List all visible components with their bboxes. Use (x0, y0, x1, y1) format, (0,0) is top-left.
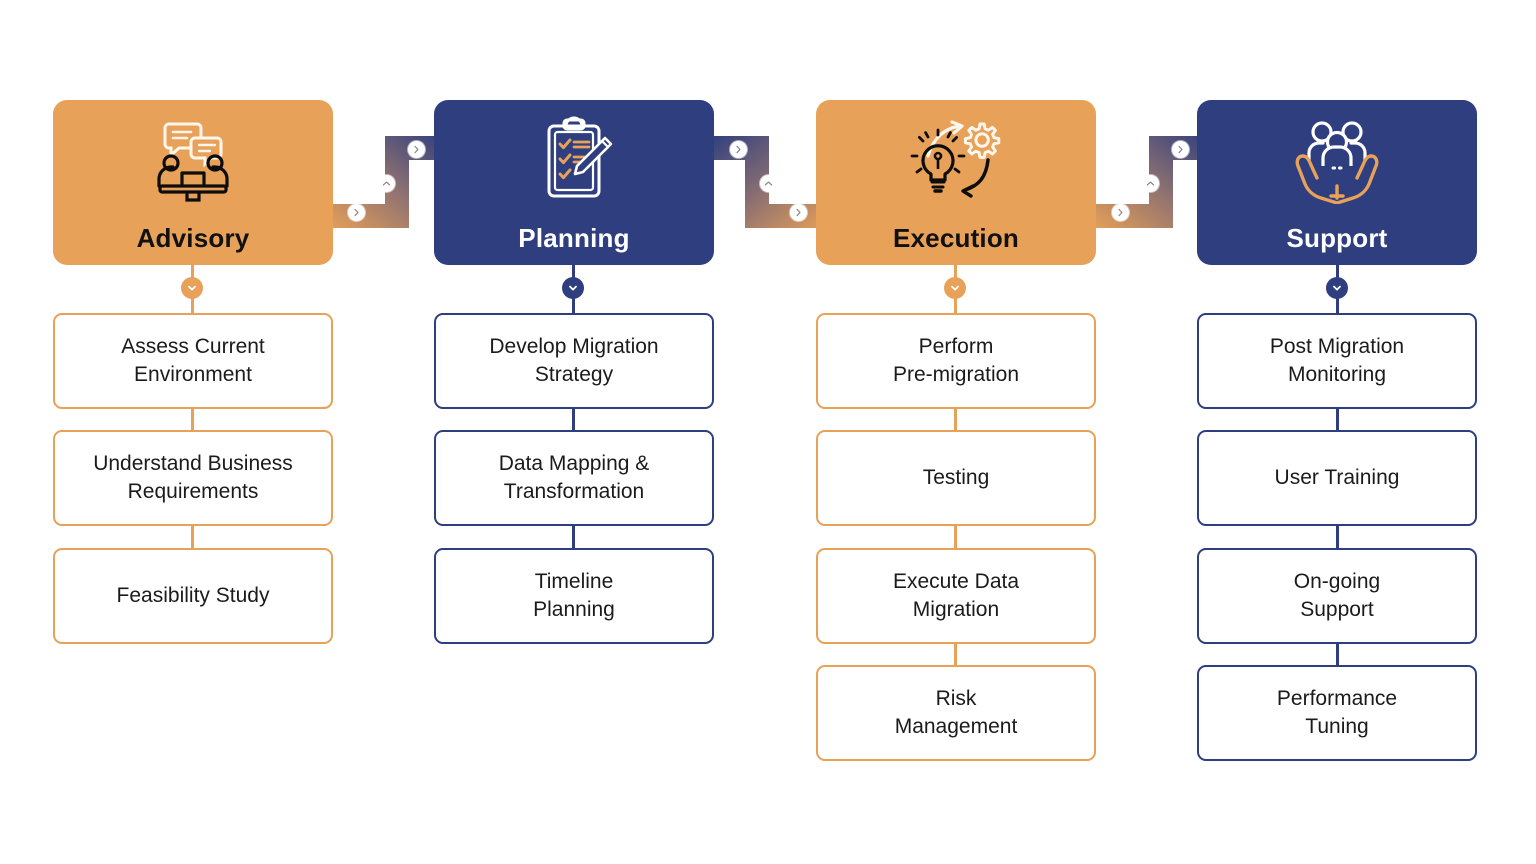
task-box-execution-1[interactable]: Perform Pre-migration (816, 313, 1096, 409)
task-label: Testing (913, 464, 1000, 492)
task-label: Post Migration Monitoring (1260, 333, 1414, 389)
task-label: Risk Management (885, 685, 1028, 741)
task-label: Develop Migration Strategy (479, 333, 668, 389)
phase-title-execution: Execution (893, 225, 1019, 251)
task-box-support-1[interactable]: Post Migration Monitoring (1197, 313, 1477, 409)
task-label: Perform Pre-migration (883, 333, 1029, 389)
connector-2-marker-right-b (790, 204, 807, 221)
phase-card-planning[interactable]: Planning (434, 100, 714, 265)
task-box-support-4[interactable]: Performance Tuning (1197, 665, 1477, 761)
task-label: Assess Current Environment (111, 333, 275, 389)
hands-holding-people-icon (1289, 116, 1385, 204)
process-flow-diagram: Advisory Assess Current Environment Unde… (0, 0, 1536, 864)
task-label: On-going Support (1284, 568, 1390, 624)
task-box-planning-1[interactable]: Develop Migration Strategy (434, 313, 714, 409)
phase-card-support[interactable]: Support (1197, 100, 1477, 265)
connector-3-marker-up (1142, 175, 1159, 192)
task-box-advisory-3[interactable]: Feasibility Study (53, 548, 333, 644)
task-box-advisory-2[interactable]: Understand Business Requirements (53, 430, 333, 526)
task-box-support-3[interactable]: On-going Support (1197, 548, 1477, 644)
task-label: User Training (1265, 464, 1410, 492)
connector-1-marker-right-b (408, 141, 425, 158)
task-box-execution-3[interactable]: Execute Data Migration (816, 548, 1096, 644)
connector-2-marker-right-a (730, 141, 747, 158)
task-box-execution-4[interactable]: Risk Management (816, 665, 1096, 761)
chevron-down-badge-execution (944, 277, 966, 299)
chevron-down-badge-advisory (181, 277, 203, 299)
task-box-support-2[interactable]: User Training (1197, 430, 1477, 526)
task-box-execution-2[interactable]: Testing (816, 430, 1096, 526)
task-label: Feasibility Study (107, 582, 280, 610)
task-label: Performance Tuning (1267, 685, 1407, 741)
task-label: Timeline Planning (523, 568, 625, 624)
connector-3-marker-right-a (1112, 204, 1129, 221)
chevron-down-badge-planning (562, 277, 584, 299)
task-label: Understand Business Requirements (83, 450, 303, 506)
chevron-down-badge-support (1326, 277, 1348, 299)
task-box-planning-3[interactable]: Timeline Planning (434, 548, 714, 644)
task-label: Execute Data Migration (883, 568, 1029, 624)
meeting-discussion-icon (145, 116, 241, 204)
phase-card-advisory[interactable]: Advisory (53, 100, 333, 265)
clipboard-checklist-pencil-icon (526, 116, 622, 204)
task-box-advisory-1[interactable]: Assess Current Environment (53, 313, 333, 409)
lightbulb-gear-arrows-icon (908, 116, 1004, 204)
connector-1-marker-up (378, 175, 395, 192)
phase-title-support: Support (1286, 225, 1387, 251)
connector-1-marker-right-a (348, 204, 365, 221)
task-label: Data Mapping & Transformation (489, 450, 660, 506)
connector-3-marker-right-b (1172, 141, 1189, 158)
phase-card-execution[interactable]: Execution (816, 100, 1096, 265)
connector-2-marker-up (760, 175, 777, 192)
phase-title-advisory: Advisory (137, 225, 250, 251)
phase-title-planning: Planning (518, 225, 629, 251)
task-box-planning-2[interactable]: Data Mapping & Transformation (434, 430, 714, 526)
